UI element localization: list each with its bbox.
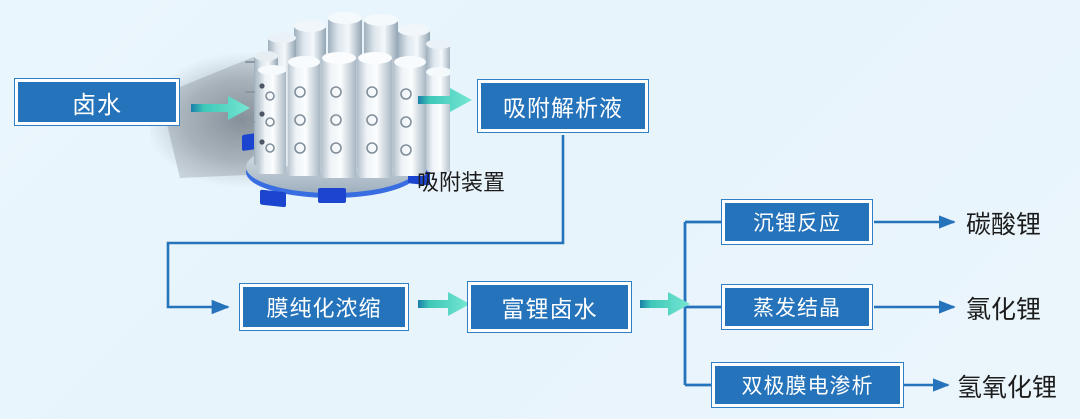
teal-arrow-membrane-to-rich (418, 292, 470, 316)
node-bipolar-membrane[interactable]: 双极膜电渗析 (711, 362, 904, 408)
node-li-rich-brine[interactable]: 富锂卤水 (467, 281, 632, 333)
node-adsorption-eluate-label: 吸附解析液 (481, 83, 645, 129)
product-label-lithium-hydroxide: 氢氧化锂 (957, 368, 1057, 404)
node-brine-label: 卤水 (18, 82, 176, 122)
node-li-rich-brine-label: 富锂卤水 (471, 285, 628, 329)
node-precipitation[interactable]: 沉锂反应 (721, 199, 873, 245)
node-precipitation-label: 沉锂反应 (725, 203, 869, 241)
node-brine[interactable]: 卤水 (14, 78, 180, 126)
flow-diagram: 卤水 吸附解析液 膜纯化浓缩 富锂卤水 沉锂反应 蒸发结晶 双极膜电渗析 吸附装… (0, 0, 1080, 419)
product-label-lithium-carbonate: 碳酸锂 (966, 205, 1041, 241)
teal-arrow-rich-to-branch (640, 292, 690, 316)
node-evaporation[interactable]: 蒸发结晶 (721, 284, 873, 330)
node-evaporation-label: 蒸发结晶 (725, 288, 869, 326)
device-caption: 吸附装置 (417, 165, 505, 197)
product-label-lithium-chloride: 氯化锂 (966, 290, 1041, 326)
node-adsorption-eluate[interactable]: 吸附解析液 (477, 79, 649, 133)
adsorption-column-device-icon (150, 0, 450, 210)
node-membrane-concentration-label: 膜纯化浓缩 (243, 287, 405, 327)
node-bipolar-membrane-label: 双极膜电渗析 (715, 366, 900, 404)
node-membrane-concentration[interactable]: 膜纯化浓缩 (239, 283, 409, 331)
